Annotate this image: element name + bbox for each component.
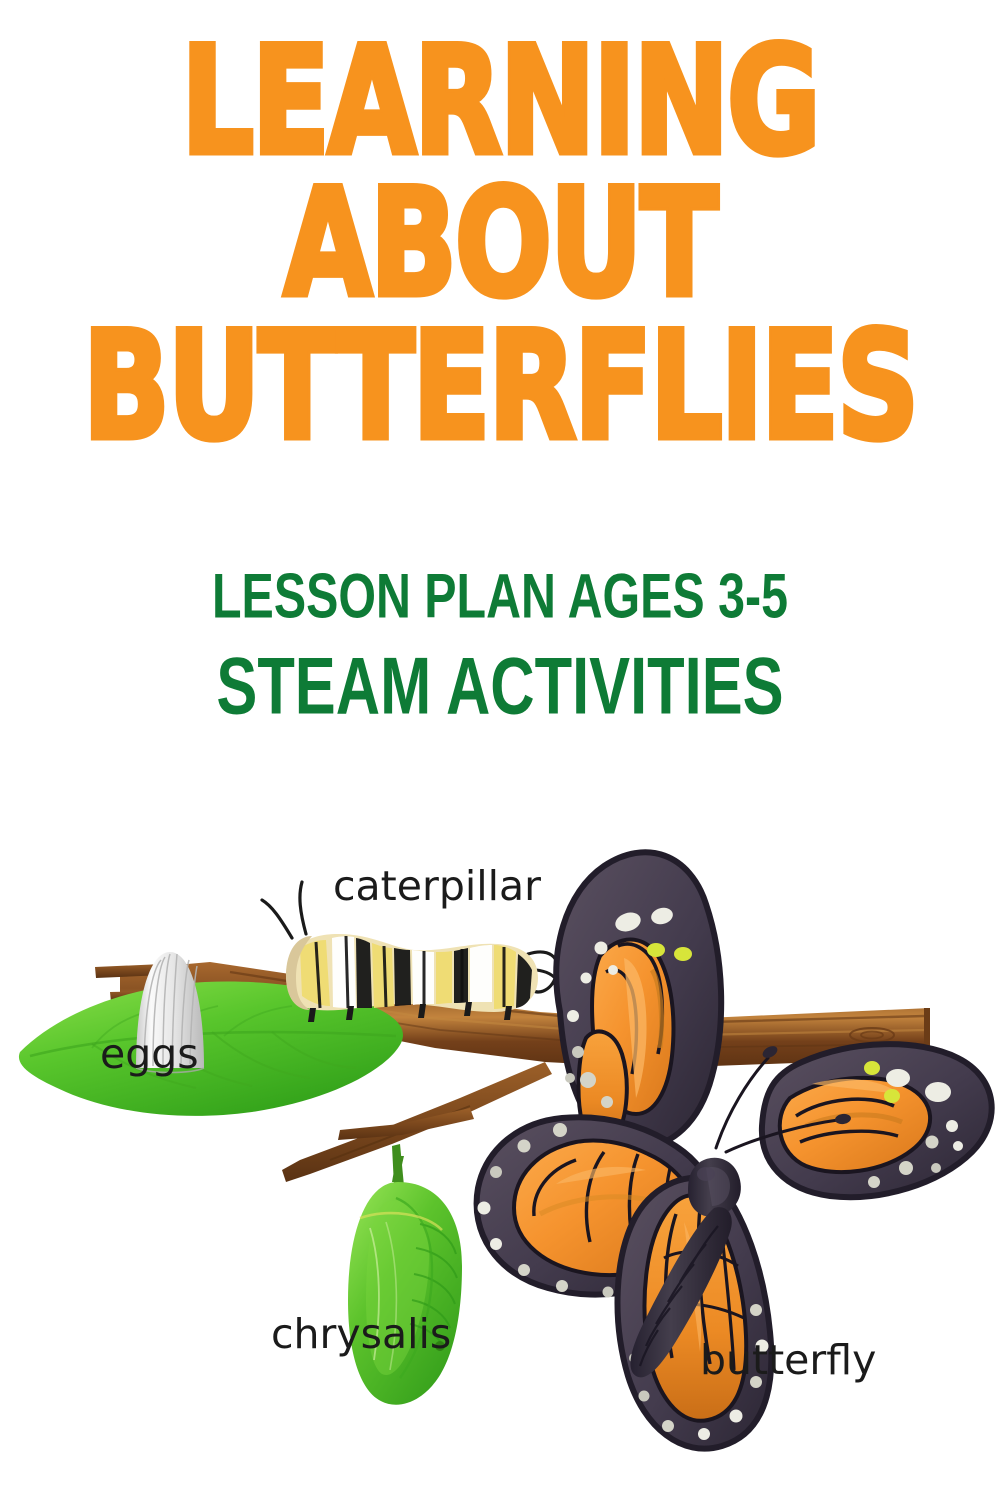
- poster-title: LEARNING ABOUT BUTTERFLIES: [0, 28, 1000, 424]
- subtitle-line-2: STEAM ACTIVITIES: [35, 645, 965, 726]
- label-chrysalis: chrysalis: [271, 1310, 451, 1358]
- title-line-3: BUTTERFLIES: [0, 319, 1000, 455]
- subtitle-line-1: LESSON PLAN AGES 3-5: [35, 565, 965, 628]
- label-eggs: eggs: [100, 1030, 199, 1078]
- chrysalis: [348, 1156, 462, 1405]
- label-butterfly: butterfly: [700, 1336, 876, 1384]
- poster-subtitle: LESSON PLAN AGES 3-5 STEAM ACTIVITIES: [0, 565, 1000, 711]
- label-caterpillar: caterpillar: [333, 862, 541, 910]
- title-line-1: LEARNING: [0, 34, 1000, 170]
- title-line-2: ABOUT: [0, 176, 1000, 312]
- poster-root: LEARNING ABOUT BUTTERFLIES LESSON PLAN A…: [0, 0, 1000, 1500]
